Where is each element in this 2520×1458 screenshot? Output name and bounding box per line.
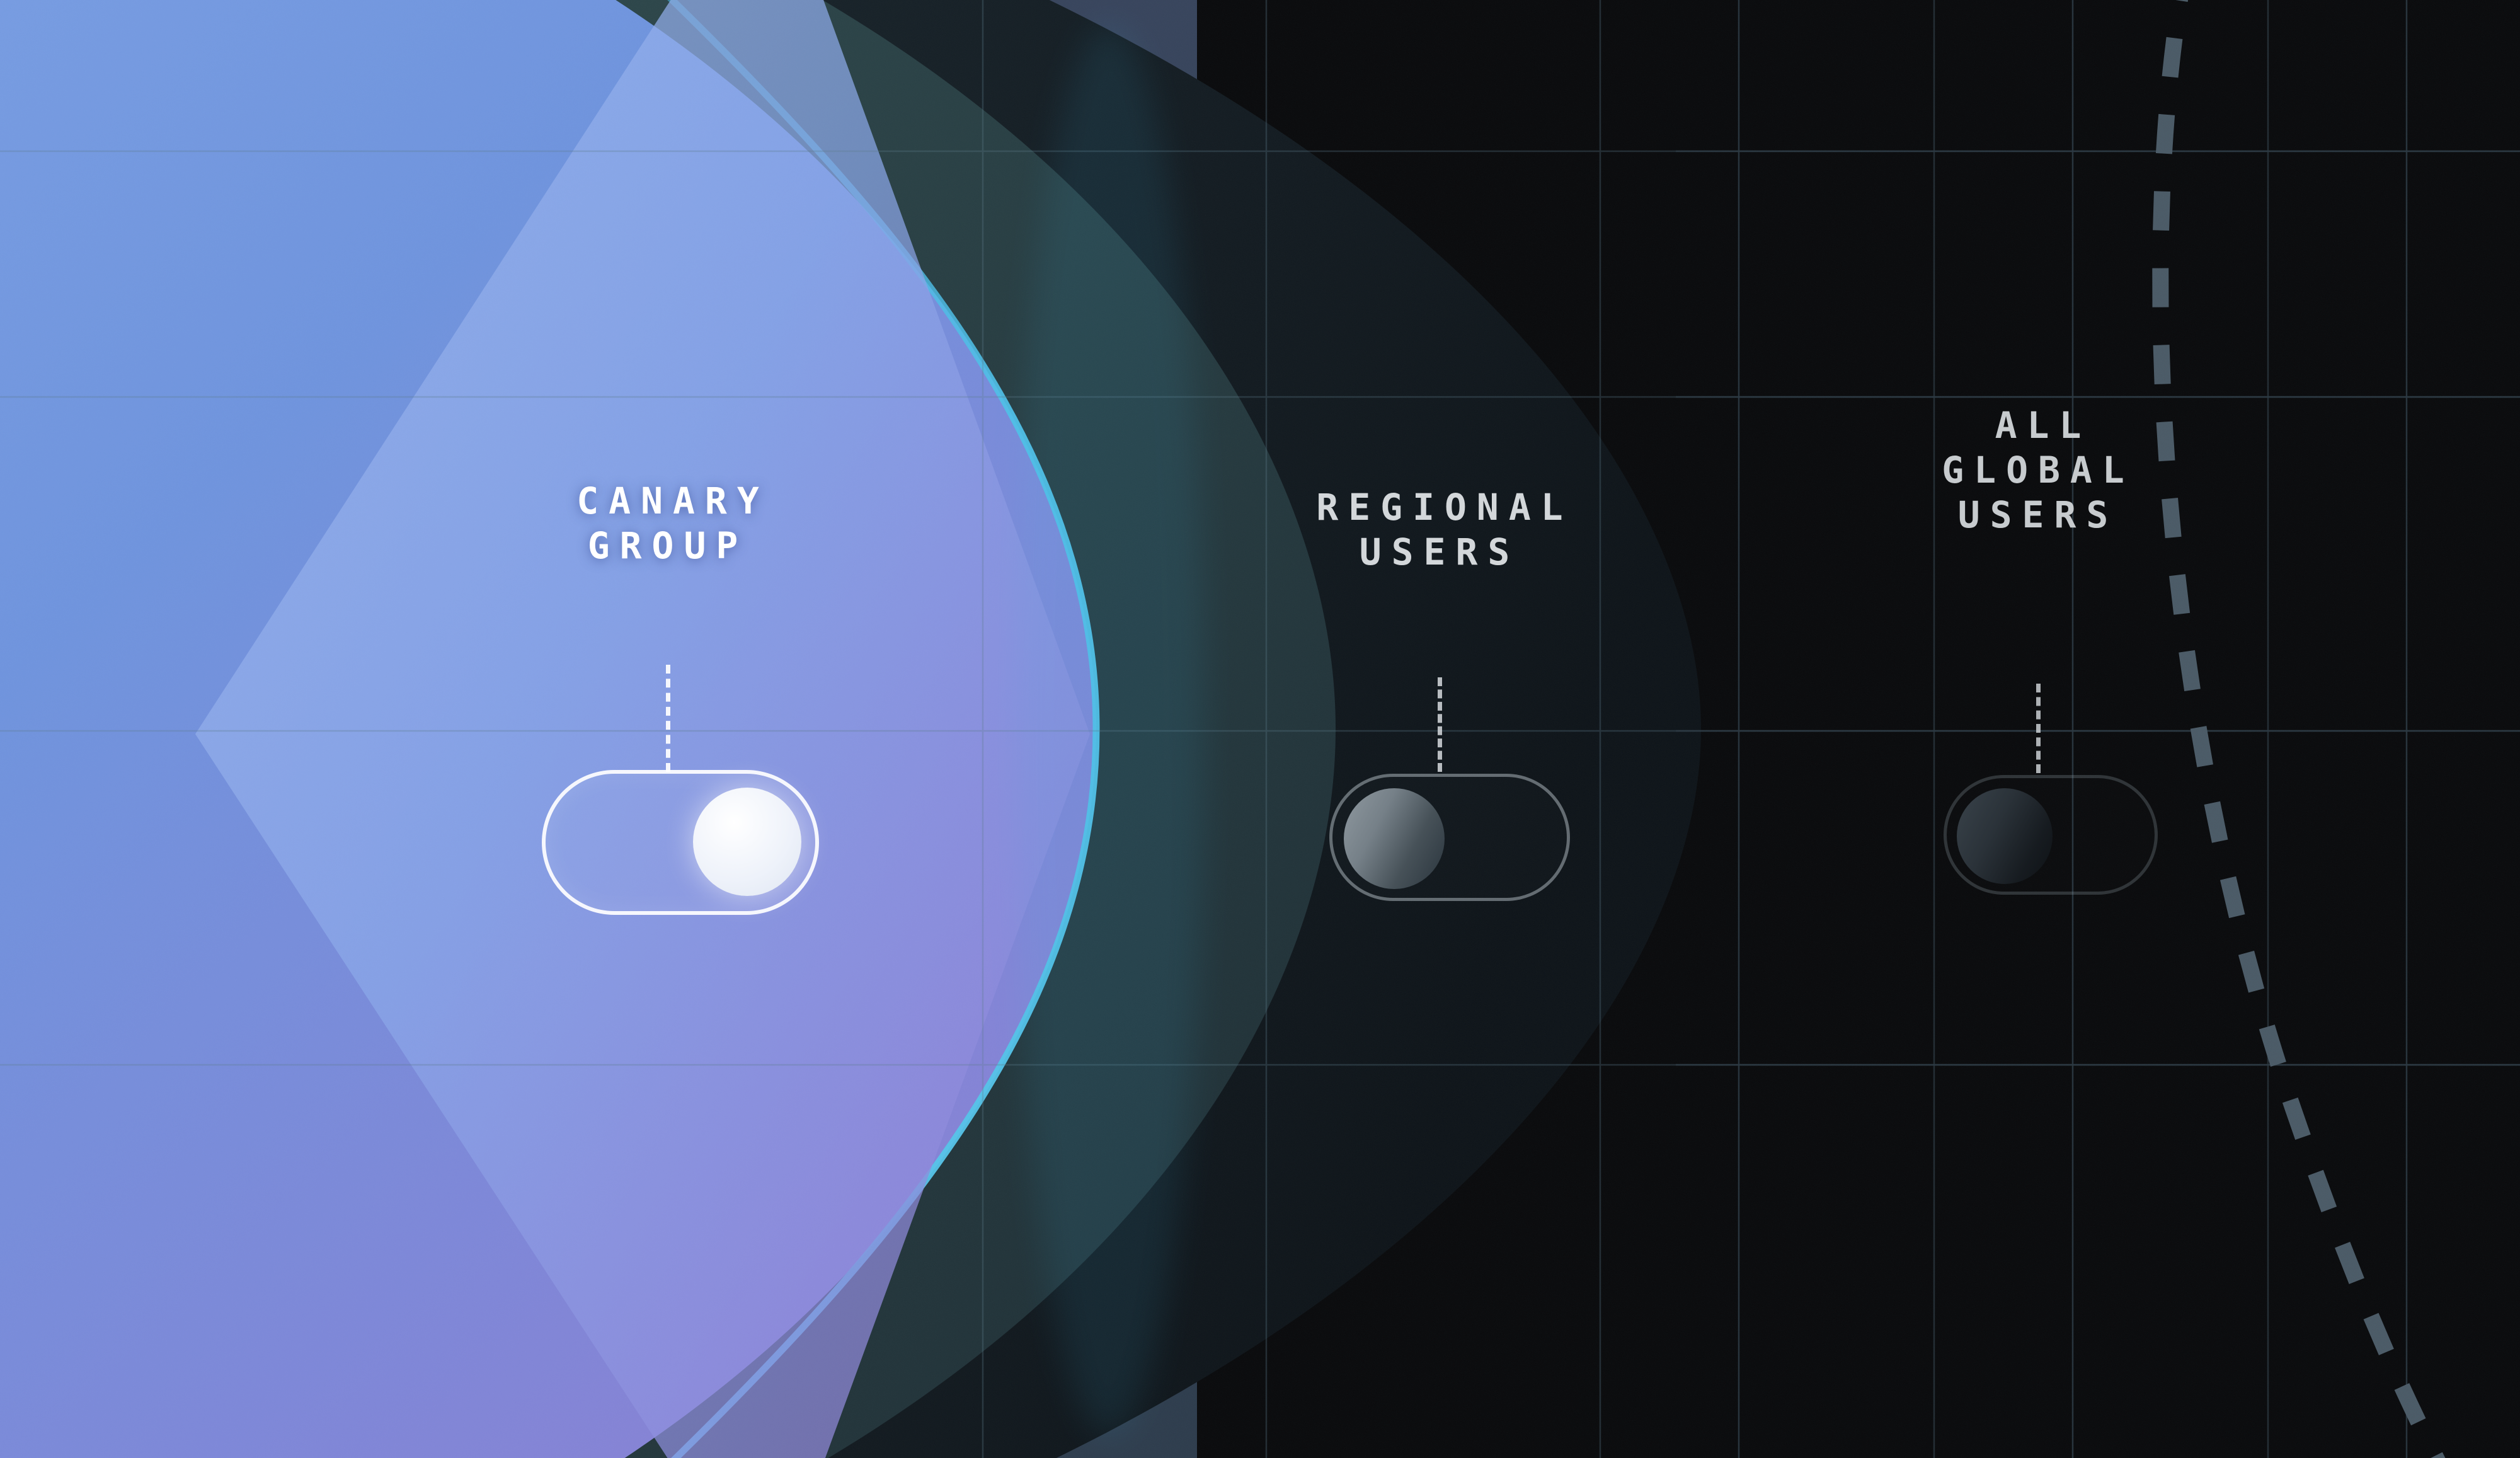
rollout-stage-list: CANARY GROUP REGIONAL USERS ALL GLOBAL U…	[0, 0, 2520, 1458]
rollout-stages-illustration: CANARY GROUP REGIONAL USERS ALL GLOBAL U…	[0, 0, 2520, 1458]
stage-all-global-users-toggle-knob[interactable]	[1957, 788, 2053, 884]
stage-all-global-users-label: ALL GLOBAL USERS	[1836, 403, 2240, 537]
stage-canary-group: CANARY GROUP	[466, 0, 869, 1458]
stage-regional-users-toggle[interactable]	[1329, 774, 1570, 901]
stage-all-global-users: ALL GLOBAL USERS	[1836, 0, 2240, 1458]
stage-canary-group-toggle[interactable]	[542, 770, 819, 915]
stage-regional-users-connector-dashed-line	[1438, 677, 1442, 772]
stage-canary-group-label: CANARY GROUP	[466, 479, 869, 568]
stage-canary-group-connector-dashed-line	[666, 665, 670, 772]
stage-all-global-users-connector-dashed-line	[2036, 684, 2041, 773]
stage-regional-users-toggle-knob[interactable]	[1344, 788, 1445, 889]
stage-regional-users: REGIONAL USERS	[1238, 0, 1641, 1458]
stage-all-global-users-toggle[interactable]	[1944, 775, 2158, 895]
stage-canary-group-toggle-knob[interactable]	[693, 788, 801, 896]
stage-regional-users-label: REGIONAL USERS	[1238, 485, 1641, 575]
